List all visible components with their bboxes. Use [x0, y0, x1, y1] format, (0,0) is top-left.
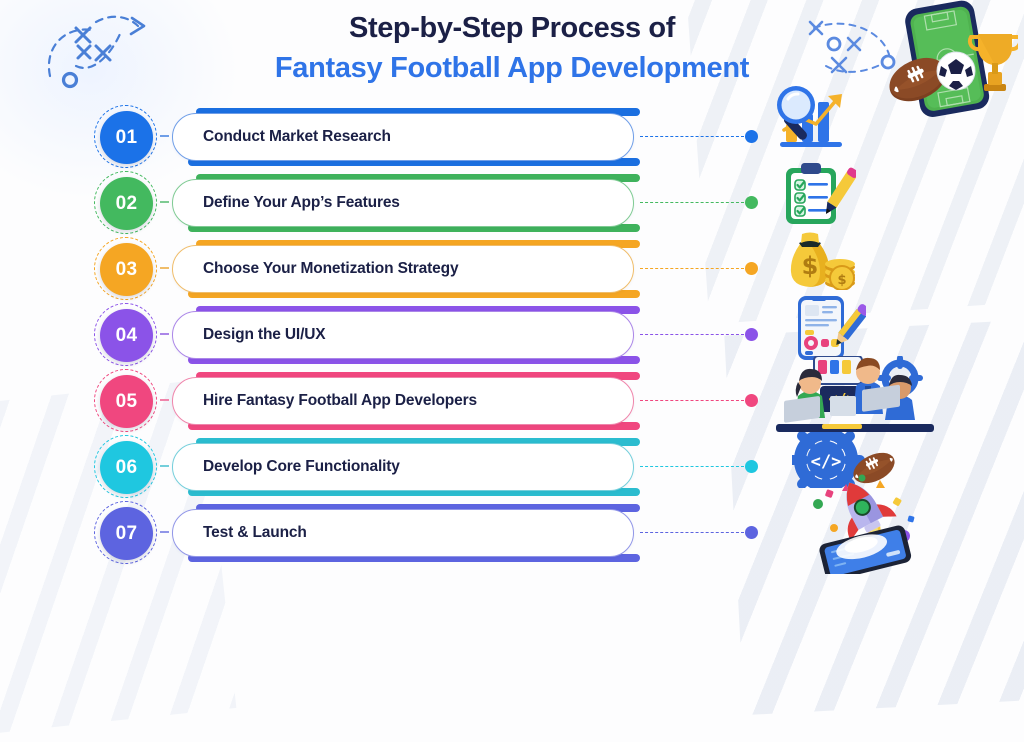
step-number-badge[interactable]: 01	[100, 111, 153, 164]
step-row[interactable]: 02Define Your App’s Features	[0, 170, 1024, 236]
step-number: 05	[116, 391, 138, 413]
step-number-badge[interactable]: 03	[100, 243, 153, 296]
step-card[interactable]: Define Your App’s Features	[172, 179, 634, 227]
step-card[interactable]: Test & Launch	[172, 509, 634, 557]
step-dotted-connector	[640, 136, 744, 137]
step-number: 03	[116, 259, 138, 281]
step-card[interactable]: Choose Your Monetization Strategy	[172, 245, 634, 293]
svg-text:$: $	[837, 273, 846, 288]
step-end-dot	[745, 526, 758, 539]
step-card-wrap[interactable]: Define Your App’s Features	[172, 174, 634, 232]
step-card-wrap[interactable]: Design the UI/UX	[172, 306, 634, 364]
step-connector-tick	[160, 135, 169, 137]
step-number-badge[interactable]: 04	[100, 309, 153, 362]
step-label: Design the UI/UX	[173, 326, 325, 344]
step-connector-tick	[160, 465, 169, 467]
step-card[interactable]: Conduct Market Research	[172, 113, 634, 161]
step-dotted-connector	[640, 400, 744, 401]
step-dotted-connector	[640, 202, 744, 203]
step-connector-tick	[160, 531, 169, 533]
step-end-dot	[745, 328, 758, 341]
step-label: Develop Core Functionality	[173, 458, 400, 476]
step-dotted-connector	[640, 532, 744, 533]
step-card[interactable]: Hire Fantasy Football App Developers	[172, 377, 634, 425]
clipboard-checklist-pencil-icon	[782, 162, 856, 231]
rocket-phone-launch-icon	[808, 474, 926, 579]
step-end-dot	[745, 262, 758, 275]
title-line-2: Fantasy Football App Development	[0, 48, 1024, 88]
step-card-wrap[interactable]: Develop Core Functionality	[172, 438, 634, 496]
step-connector-tick	[160, 267, 169, 269]
step-dotted-connector	[640, 334, 744, 335]
step-dotted-connector	[640, 268, 744, 269]
step-label: Define Your App’s Features	[173, 194, 400, 212]
step-card-wrap[interactable]: Conduct Market Research	[172, 108, 634, 166]
step-number: 01	[116, 127, 138, 149]
step-card[interactable]: Develop Core Functionality	[172, 443, 634, 491]
step-number: 07	[116, 523, 138, 545]
step-number: 06	[116, 457, 138, 479]
step-label: Choose Your Monetization Strategy	[173, 260, 458, 278]
step-end-dot	[745, 460, 758, 473]
step-number-badge[interactable]: 02	[100, 177, 153, 230]
title-line-1: Step-by-Step Process of	[0, 8, 1024, 48]
step-label: Conduct Market Research	[173, 128, 391, 146]
magnifier-bar-chart-icon	[752, 84, 852, 161]
step-label: Test & Launch	[173, 524, 307, 542]
step-row[interactable]: 03Choose Your Monetization Strategy	[0, 236, 1024, 302]
step-number-badge[interactable]: 07	[100, 507, 153, 560]
step-connector-tick	[160, 201, 169, 203]
step-dotted-connector	[640, 466, 744, 467]
step-number: 04	[116, 325, 138, 347]
svg-text:</>: </>	[811, 452, 842, 472]
step-row[interactable]: 01Conduct Market Research	[0, 104, 1024, 170]
step-card-wrap[interactable]: Hire Fantasy Football App Developers	[172, 372, 634, 430]
step-card-wrap[interactable]: Test & Launch	[172, 504, 634, 562]
step-connector-tick	[160, 333, 169, 335]
step-connector-tick	[160, 399, 169, 401]
step-card[interactable]: Design the UI/UX	[172, 311, 634, 359]
step-number-badge[interactable]: 06	[100, 441, 153, 494]
hero-illustration	[884, 0, 1018, 127]
step-end-dot	[745, 394, 758, 407]
step-end-dot	[745, 196, 758, 209]
step-number: 02	[116, 193, 138, 215]
page-title: Step-by-Step Process of Fantasy Football…	[0, 8, 1024, 88]
developer-team-laptops-icon: </>	[776, 356, 934, 439]
svg-text:$: $	[802, 252, 819, 280]
step-number-badge[interactable]: 05	[100, 375, 153, 428]
money-bag-coins-icon: $ $	[782, 232, 858, 295]
step-label: Hire Fantasy Football App Developers	[173, 392, 477, 410]
step-card-wrap[interactable]: Choose Your Monetization Strategy	[172, 240, 634, 298]
